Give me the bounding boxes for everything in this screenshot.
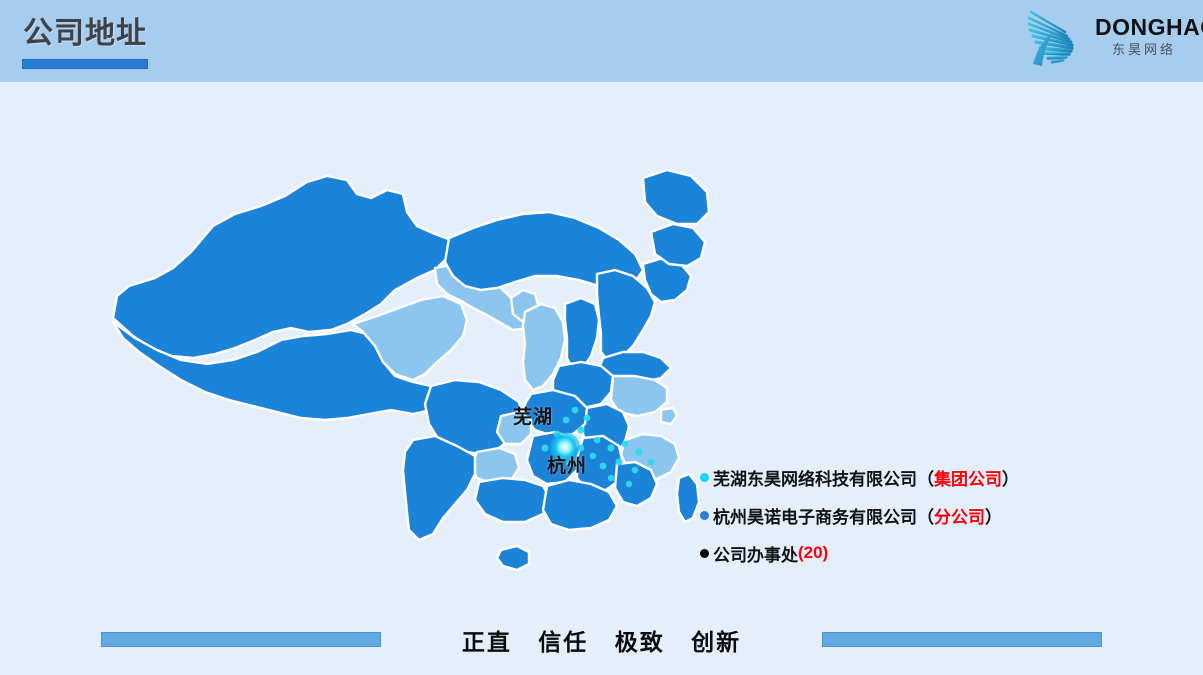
legend-text-group-company: 芜湖东昊网络科技有限公司（ xyxy=(713,465,934,490)
slogan-word-3: 极致 xyxy=(615,629,665,655)
title-underline-bar xyxy=(22,59,148,69)
legend-text-offices: 公司办事处 xyxy=(713,541,798,566)
legend-item-group-company: 芜湖东昊网络科技有限公司（ 集团公司 ） xyxy=(700,458,1160,496)
china-map-svg xyxy=(95,118,715,618)
legend-emphasis-branch-company: 分公司 xyxy=(934,503,985,528)
company-logo: DONGHAO 东昊网络 xyxy=(1021,6,1193,74)
legend-dot-black xyxy=(700,549,709,558)
legend-tail-branch-company: ） xyxy=(985,503,1002,528)
slogan-word-2: 信任 xyxy=(538,629,588,655)
legend-text-branch-company: 杭州昊诺电子商务有限公司（ xyxy=(713,503,934,528)
footer-slogan: 正直 信任 极致 创新 xyxy=(0,623,1203,657)
slogan-word-4: 创新 xyxy=(691,629,741,655)
legend-emphasis-offices-count: (20) xyxy=(798,543,828,563)
logo-name: DONGHAO xyxy=(1095,14,1193,40)
legend-dot-blue xyxy=(700,511,709,520)
city-label-hangzhou: 杭州 xyxy=(547,451,587,478)
donghao-feather-logo-icon xyxy=(1023,6,1095,74)
slide-header: 公司地址 xyxy=(0,0,1203,82)
legend: 芜湖东昊网络科技有限公司（ 集团公司 ） 杭州昊诺电子商务有限公司（ 分公司 ）… xyxy=(700,458,1160,572)
legend-item-branch-company: 杭州昊诺电子商务有限公司（ 分公司 ） xyxy=(700,496,1160,534)
legend-tail-group-company: ） xyxy=(1002,465,1019,490)
legend-item-offices: 公司办事处 (20) xyxy=(700,534,1160,572)
legend-dot-cyan xyxy=(700,473,709,482)
china-map: 芜湖 杭州 xyxy=(95,118,715,618)
page-title: 公司地址 xyxy=(23,14,147,54)
logo-subtitle: 东昊网络 xyxy=(1095,41,1193,59)
logo-text-block: DONGHAO 东昊网络 xyxy=(1095,14,1193,59)
city-label-wuhu: 芜湖 xyxy=(513,402,553,429)
legend-emphasis-group-company: 集团公司 xyxy=(934,465,1002,490)
slogan-word-1: 正直 xyxy=(462,629,512,655)
